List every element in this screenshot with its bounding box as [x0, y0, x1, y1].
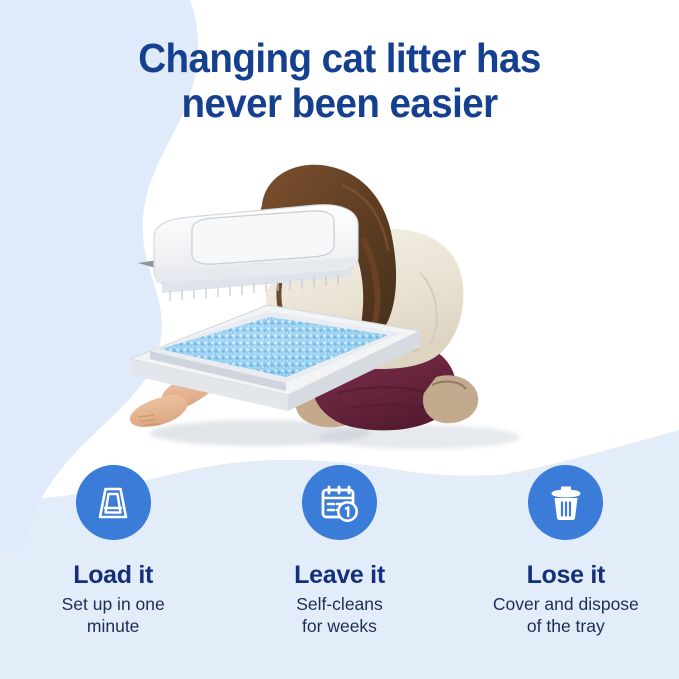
hand [130, 395, 187, 427]
product-lifestyle-photo [120, 145, 560, 455]
headline-line-2: never been easier [20, 81, 658, 126]
feature-subtitle: Self-cleans for weeks [296, 594, 383, 637]
feature-subtitle-line-2: minute [87, 616, 140, 636]
page-title: Changing cat litter has never been easie… [20, 36, 658, 126]
feature-subtitle: Set up in one minute [62, 594, 165, 637]
headline-line-1: Changing cat litter has [138, 35, 540, 81]
trash-can-icon-circle [528, 465, 603, 540]
calendar-one-icon [317, 481, 361, 525]
feature-leave-it: Leave it Self-cleans for weeks [226, 465, 452, 679]
feature-row: Load it Set up in one minute Leave it [0, 465, 679, 679]
calendar-one-icon-circle [302, 465, 377, 540]
photo-illustration [120, 145, 560, 455]
feature-title: Leave it [294, 562, 385, 588]
trash-can-icon [544, 481, 588, 525]
promo-image-canvas: Changing cat litter has never been easie… [0, 0, 679, 679]
feature-subtitle-line-2: for weeks [302, 616, 377, 636]
person-shadow [320, 425, 520, 449]
feature-subtitle-line-2: of the tray [527, 616, 605, 636]
feature-subtitle: Cover and dispose of the tray [493, 594, 639, 637]
feature-title: Load it [73, 562, 153, 588]
feature-subtitle-line-1: Cover and dispose [493, 594, 639, 614]
feature-lose-it: Lose it Cover and dispose of the tray [453, 465, 679, 679]
feature-subtitle-line-1: Set up in one [62, 594, 165, 614]
feature-load-it: Load it Set up in one minute [0, 465, 226, 679]
litter-tray-icon-circle [76, 465, 151, 540]
feature-subtitle-line-1: Self-cleans [296, 594, 383, 614]
litter-tray-icon [91, 481, 135, 525]
hood-lid-panel [192, 211, 334, 264]
feature-title: Lose it [527, 562, 605, 588]
